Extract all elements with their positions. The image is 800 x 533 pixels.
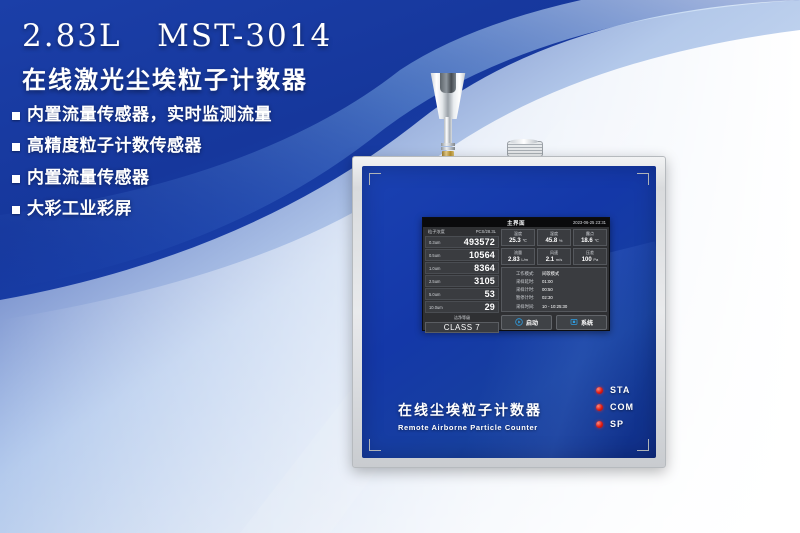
list-item: 内置流量传感器 [12,167,312,188]
table-row: 10.0um 29 [425,301,499,313]
sensor-label: 湿度 [550,231,558,237]
sampling-mode-panel: 工作模式: 间歇模式 采样延时: 01:00 采样计时: 00:50 [501,267,607,312]
list-item: 内置流量传感器，实时监测流量 [12,104,312,125]
feature-bullet-list: 内置流量传感器，实时监测流量 高精度粒子计数传感器 内置流量传感器 大彩工业彩屏 [12,104,312,229]
sensor-unit: Pa [593,257,598,262]
product-headline: 2.83L MST-3014 [22,18,332,54]
lcd-screen[interactable]: 主界面 2023-06-25 23:31 粒子浓度 PCS/28.3L 0.3u… [422,217,610,331]
sensor-value: 45.8 [546,238,558,244]
play-icon [515,318,523,326]
led-indicator-icon [596,404,603,411]
feature-text: 大彩工业彩屏 [27,198,132,219]
mode-value: 间歇模式 [542,270,559,278]
sensor-card-pressure: 压差 100 Pa [573,248,607,265]
column-header-unit: PCS/28.3L [476,229,496,235]
bullet-square-icon [12,175,20,183]
device-enclosure: 主界面 2023-06-25 23:31 粒子浓度 PCS/28.3L 0.3u… [352,156,666,468]
system-button[interactable]: 系统 [556,315,607,330]
feature-text: 内置流量传感器 [27,167,150,188]
sensor-card-windspeed: 风速 2.1 m/s [537,248,571,265]
device-branding: 在线尘埃粒子计数器 Remote Airborne Particle Count… [398,400,542,432]
particle-size: 0.5um [429,253,440,258]
particle-count: 3105 [474,276,495,286]
led-label: COM [610,402,634,412]
sensor-unit: L/m [521,257,528,262]
sensor-label: 风速 [550,250,558,256]
feature-text: 内置流量传感器，实时监测流量 [27,104,272,125]
particle-count: 493572 [464,237,495,247]
sensor-value: 100 [582,257,592,263]
mode-row: 采样计时: 00:50 [502,286,606,294]
sensor-label: 压差 [586,250,594,256]
list-item: 高精度粒子计数传感器 [12,135,312,156]
sensor-value: 2.83 [508,257,520,263]
sensor-value: 18.6 [581,238,593,244]
sensor-card-temperature: 温度 25.3 ℃ [501,229,535,246]
product-promo-image: 2.83L MST-3014 在线激光尘埃粒子计数器 内置流量传感器，实时监测流… [0,0,800,533]
sensor-value: 2.1 [546,257,554,263]
start-button[interactable]: 启动 [501,315,552,330]
particle-count: 53 [485,289,495,299]
particle-size: 0.3um [429,240,440,245]
mode-key: 工作模式: [516,270,542,278]
led-label: STA [610,385,630,395]
mode-key: 采样时间: [516,303,542,311]
system-button-label: 系统 [581,318,593,327]
table-row: 1.0um 8364 [425,262,499,274]
particle-concentration-table: 粒子浓度 PCS/28.3L 0.3um 493572 0.5um 10564 [425,229,499,326]
led-label: SP [610,419,624,429]
column-header-size: 粒子浓度 [428,229,445,235]
particle-counter-device: 主界面 2023-06-25 23:31 粒子浓度 PCS/28.3L 0.3u… [352,156,664,466]
particle-size: 5.0um [429,292,440,297]
mode-row: 采样延时: 01:00 [502,278,606,286]
sensor-label: 温度 [514,231,522,237]
sensor-unit: ℃ [594,238,599,243]
mode-key: 采样延时: [516,278,542,286]
mode-value: 02:30 [542,294,553,302]
status-led-com: COM [596,402,634,412]
brand-name-en: Remote Airborne Particle Counter [398,423,542,432]
sensor-readings-grid: 温度 25.3 ℃ 湿度 45.8 % 露点 18.6 ℃ [501,229,607,265]
timestamp: 2023-06-25 23:31 [573,220,606,225]
status-led-sta: STA [596,385,634,395]
isokinetic-sampling-probe-icon [430,73,466,159]
list-item: 大彩工业彩屏 [12,198,312,219]
particle-size: 10.0um [429,305,443,310]
status-led-sp: SP [596,419,634,429]
led-indicator-icon [596,387,603,394]
sensor-card-dewpoint: 露点 18.6 ℃ [573,229,607,246]
sensor-value: 25.3 [509,238,521,244]
screen-title-bar: 主界面 2023-06-25 23:31 [423,218,609,227]
table-row: 0.3um 493572 [425,236,499,248]
mode-row: 暂停计时: 02:30 [502,294,606,302]
bullet-square-icon [12,143,20,151]
settings-icon [570,318,578,326]
table-row: 0.5um 10564 [425,249,499,261]
mode-row: 工作模式: 间歇模式 [502,270,606,278]
mode-key: 暂停计时: [516,294,542,302]
particle-count: 8364 [474,263,495,273]
start-button-label: 启动 [526,318,538,327]
led-indicator-icon [596,421,603,428]
cleanliness-class-label: 洁净等级 [425,315,499,321]
sensor-unit: % [559,238,563,243]
particle-size: 2.5um [429,279,440,284]
mode-row: 采样时间: 10 - 10:25:30 [502,303,606,311]
device-front-panel: 主界面 2023-06-25 23:31 粒子浓度 PCS/28.3L 0.3u… [362,166,656,458]
mode-value: 00:50 [542,286,553,294]
sensor-card-humidity: 湿度 45.8 % [537,229,571,246]
sensor-label: 露点 [586,231,594,237]
feature-text: 高精度粒子计数传感器 [27,135,202,156]
mode-key: 采样计时: [516,286,542,294]
bullet-square-icon [12,206,20,214]
particle-size: 1.0um [429,266,440,271]
sensor-label: 流量 [514,250,522,256]
sensor-unit: m/s [556,257,562,262]
bullet-square-icon [12,112,20,120]
status-led-group: STA COM SP [596,385,634,436]
particle-count: 29 [485,302,495,312]
table-header: 粒子浓度 PCS/28.3L [425,229,499,235]
table-row: 5.0um 53 [425,288,499,300]
mode-value: 01:00 [542,278,553,286]
sensor-card-flow: 流量 2.83 L/m [501,248,535,265]
particle-count: 10564 [469,250,495,260]
cleanliness-class-value: CLASS 7 [425,322,499,333]
mode-value: 10 - 10:25:30 [542,303,567,311]
table-row: 2.5um 3105 [425,275,499,287]
product-subhead: 在线激光尘埃粒子计数器 [22,60,308,95]
brand-name-cn: 在线尘埃粒子计数器 [398,400,542,420]
sensor-unit: ℃ [522,238,527,243]
page-title: 主界面 [507,219,525,227]
